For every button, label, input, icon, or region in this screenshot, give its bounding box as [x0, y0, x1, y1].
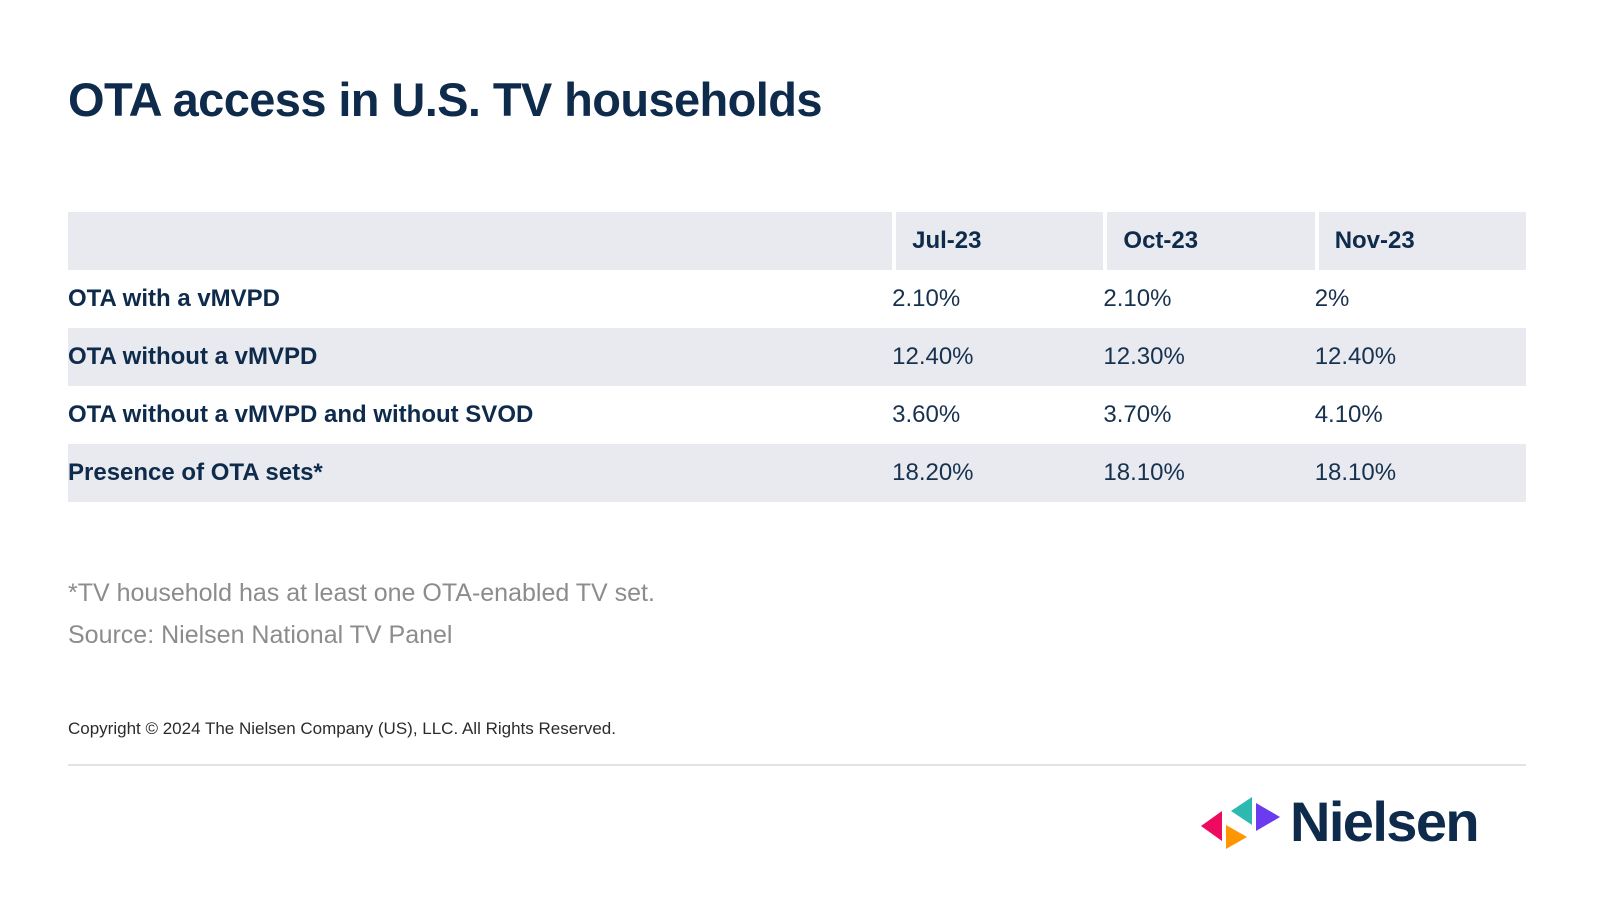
table-header-row: Jul-23 Oct-23 Nov-23 [68, 212, 1526, 270]
triangle-pink-icon [1201, 811, 1222, 841]
cell-value: 18.10% [1315, 444, 1526, 502]
nielsen-triangles-icon [1190, 793, 1286, 849]
triangle-purple-icon [1256, 803, 1280, 831]
cell-value: 3.60% [892, 386, 1103, 444]
cell-value: 18.10% [1103, 444, 1314, 502]
row-label: OTA without a vMVPD and without SVOD [68, 386, 892, 444]
data-table-container: Jul-23 Oct-23 Nov-23 OTA with a vMVPD 2.… [68, 212, 1526, 502]
table-body: OTA with a vMVPD 2.10% 2.10% 2% OTA with… [68, 270, 1526, 502]
table-row: Presence of OTA sets* 18.20% 18.10% 18.1… [68, 444, 1526, 502]
copyright-text: Copyright © 2024 The Nielsen Company (US… [68, 719, 616, 739]
footnote-block: *TV household has at least one OTA-enabl… [68, 572, 655, 656]
cell-value: 12.40% [892, 328, 1103, 386]
column-header-nov-23: Nov-23 [1315, 212, 1526, 270]
table-row: OTA with a vMVPD 2.10% 2.10% 2% [68, 270, 1526, 328]
footnote-line: *TV household has at least one OTA-enabl… [68, 572, 655, 614]
ota-access-table: Jul-23 Oct-23 Nov-23 OTA with a vMVPD 2.… [68, 212, 1526, 502]
nielsen-logo: Nielsen [1190, 793, 1526, 855]
triangle-orange-icon [1226, 825, 1247, 849]
cell-value: 2.10% [892, 270, 1103, 328]
table-row: OTA without a vMVPD 12.40% 12.30% 12.40% [68, 328, 1526, 386]
cell-value: 18.20% [892, 444, 1103, 502]
cell-value: 3.70% [1103, 386, 1314, 444]
footer-divider [68, 764, 1526, 766]
table-header: Jul-23 Oct-23 Nov-23 [68, 212, 1526, 270]
cell-value: 4.10% [1315, 386, 1526, 444]
cell-value: 2% [1315, 270, 1526, 328]
column-header-metric [68, 212, 892, 270]
slide-canvas: OTA access in U.S. TV households Jul-23 … [0, 0, 1600, 899]
table-row: OTA without a vMVPD and without SVOD 3.6… [68, 386, 1526, 444]
cell-value: 12.30% [1103, 328, 1314, 386]
cell-value: 2.10% [1103, 270, 1314, 328]
triangle-teal-icon [1231, 797, 1252, 825]
column-header-oct-23: Oct-23 [1103, 212, 1314, 270]
row-label: OTA without a vMVPD [68, 328, 892, 386]
source-line: Source: Nielsen National TV Panel [68, 614, 655, 656]
page-title: OTA access in U.S. TV households [68, 74, 822, 126]
nielsen-wordmark: Nielsen [1290, 791, 1478, 853]
column-header-jul-23: Jul-23 [892, 212, 1103, 270]
row-label: Presence of OTA sets* [68, 444, 892, 502]
cell-value: 12.40% [1315, 328, 1526, 386]
row-label: OTA with a vMVPD [68, 270, 892, 328]
